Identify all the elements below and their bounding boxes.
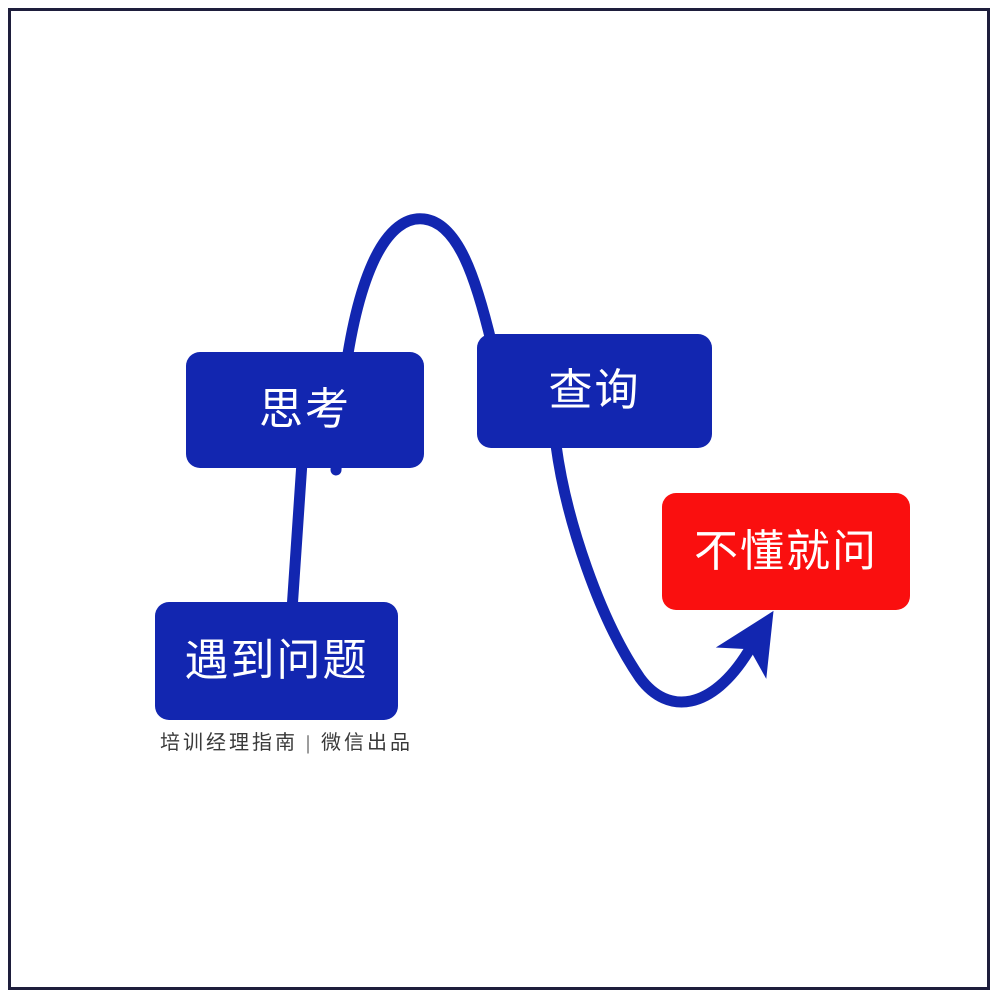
node-chaxun-label: 查询 [549, 369, 641, 413]
node-sikao-label: 思考 [259, 388, 351, 432]
node-yudao[interactable]: 遇到问题 [155, 602, 398, 720]
node-yudao-label: 遇到问题 [185, 639, 369, 683]
watermark-text: 培训经理指南 | 微信出品 [160, 726, 413, 755]
node-budong[interactable]: 不懂就问 [662, 493, 910, 610]
node-chaxun[interactable]: 查询 [477, 334, 712, 448]
node-budong-label: 不懂就问 [694, 530, 878, 574]
connector-yudao-to-sikao [292, 462, 302, 610]
diagram-canvas: 思考 查询 遇到问题 不懂就问 培训经理指南 | 微信出品 [0, 0, 1000, 1000]
node-sikao[interactable]: 思考 [186, 352, 424, 468]
